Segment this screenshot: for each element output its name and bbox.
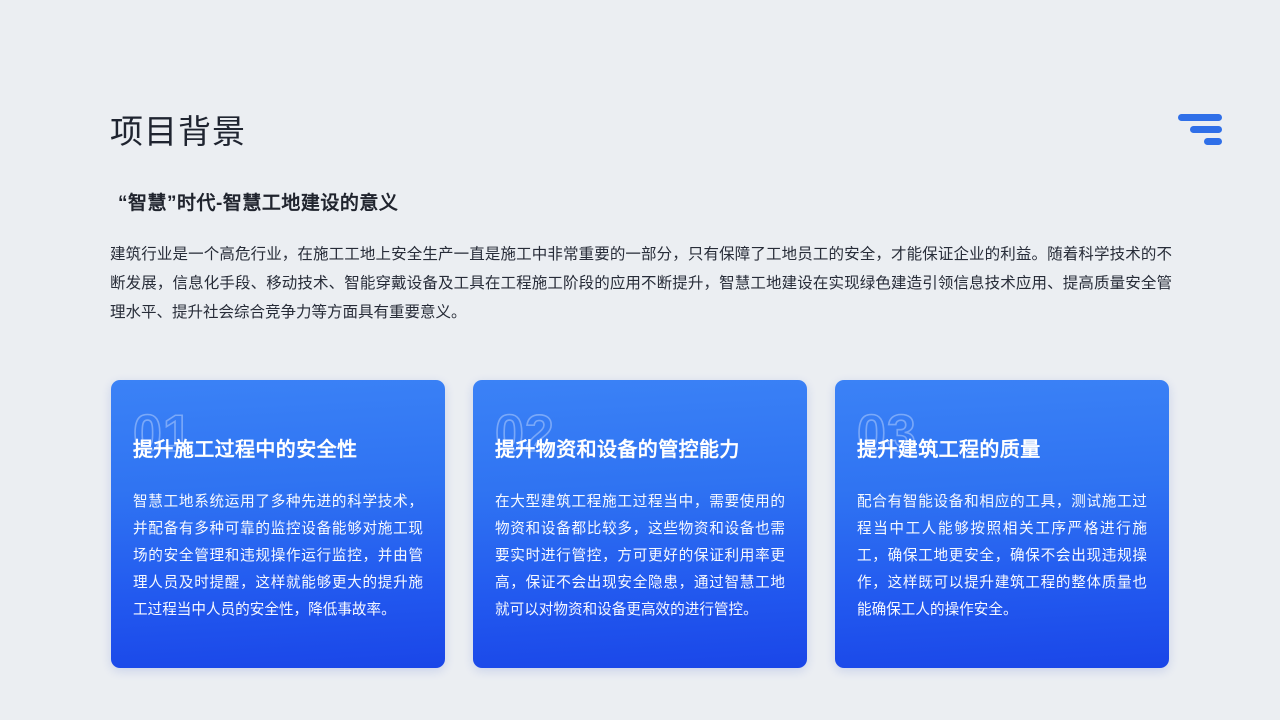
- feature-card-02[interactable]: 02 提升物资和设备的管控能力 在大型建筑工程施工过程当中，需要使用的物资和设备…: [473, 380, 807, 668]
- page-title: 项目背景: [110, 112, 246, 152]
- decoration-bar-medium: [1190, 126, 1222, 133]
- card-body-text: 智慧工地系统运用了多种先进的科学技术，并配备有多种可靠的监控设备能够对施工现场的…: [133, 489, 423, 624]
- decoration-bar-long: [1178, 114, 1222, 121]
- feature-card-01[interactable]: 01 提升施工过程中的安全性 智慧工地系统运用了多种先进的科学技术，并配备有多种…: [111, 380, 445, 668]
- card-body-text: 在大型建筑工程施工过程当中，需要使用的物资和设备都比较多，这些物资和设备也需要实…: [495, 489, 785, 624]
- card-heading: 提升物资和设备的管控能力: [495, 438, 785, 463]
- feature-card-03[interactable]: 03 提升建筑工程的质量 配合有智能设备和相应的工具，测试施工过程当中工人能够按…: [835, 380, 1169, 668]
- card-body-text: 配合有智能设备和相应的工具，测试施工过程当中工人能够按照相关工序严格进行施工，确…: [857, 489, 1147, 624]
- feature-card-group: 01 提升施工过程中的安全性 智慧工地系统运用了多种先进的科学技术，并配备有多种…: [111, 380, 1169, 668]
- card-heading: 提升建筑工程的质量: [857, 438, 1147, 463]
- decoration-bar-short: [1204, 138, 1222, 145]
- slide-root: 项目背景 “智慧”时代-智慧工地建设的意义 建筑行业是一个高危行业，在施工工地上…: [0, 0, 1280, 720]
- bar-stack-decoration-icon: [1178, 114, 1222, 145]
- intro-paragraph: 建筑行业是一个高危行业，在施工工地上安全生产一直是施工中非常重要的一部分，只有保…: [110, 240, 1172, 327]
- card-heading: 提升施工过程中的安全性: [133, 438, 423, 463]
- section-subtitle: “智慧”时代-智慧工地建设的意义: [118, 192, 398, 217]
